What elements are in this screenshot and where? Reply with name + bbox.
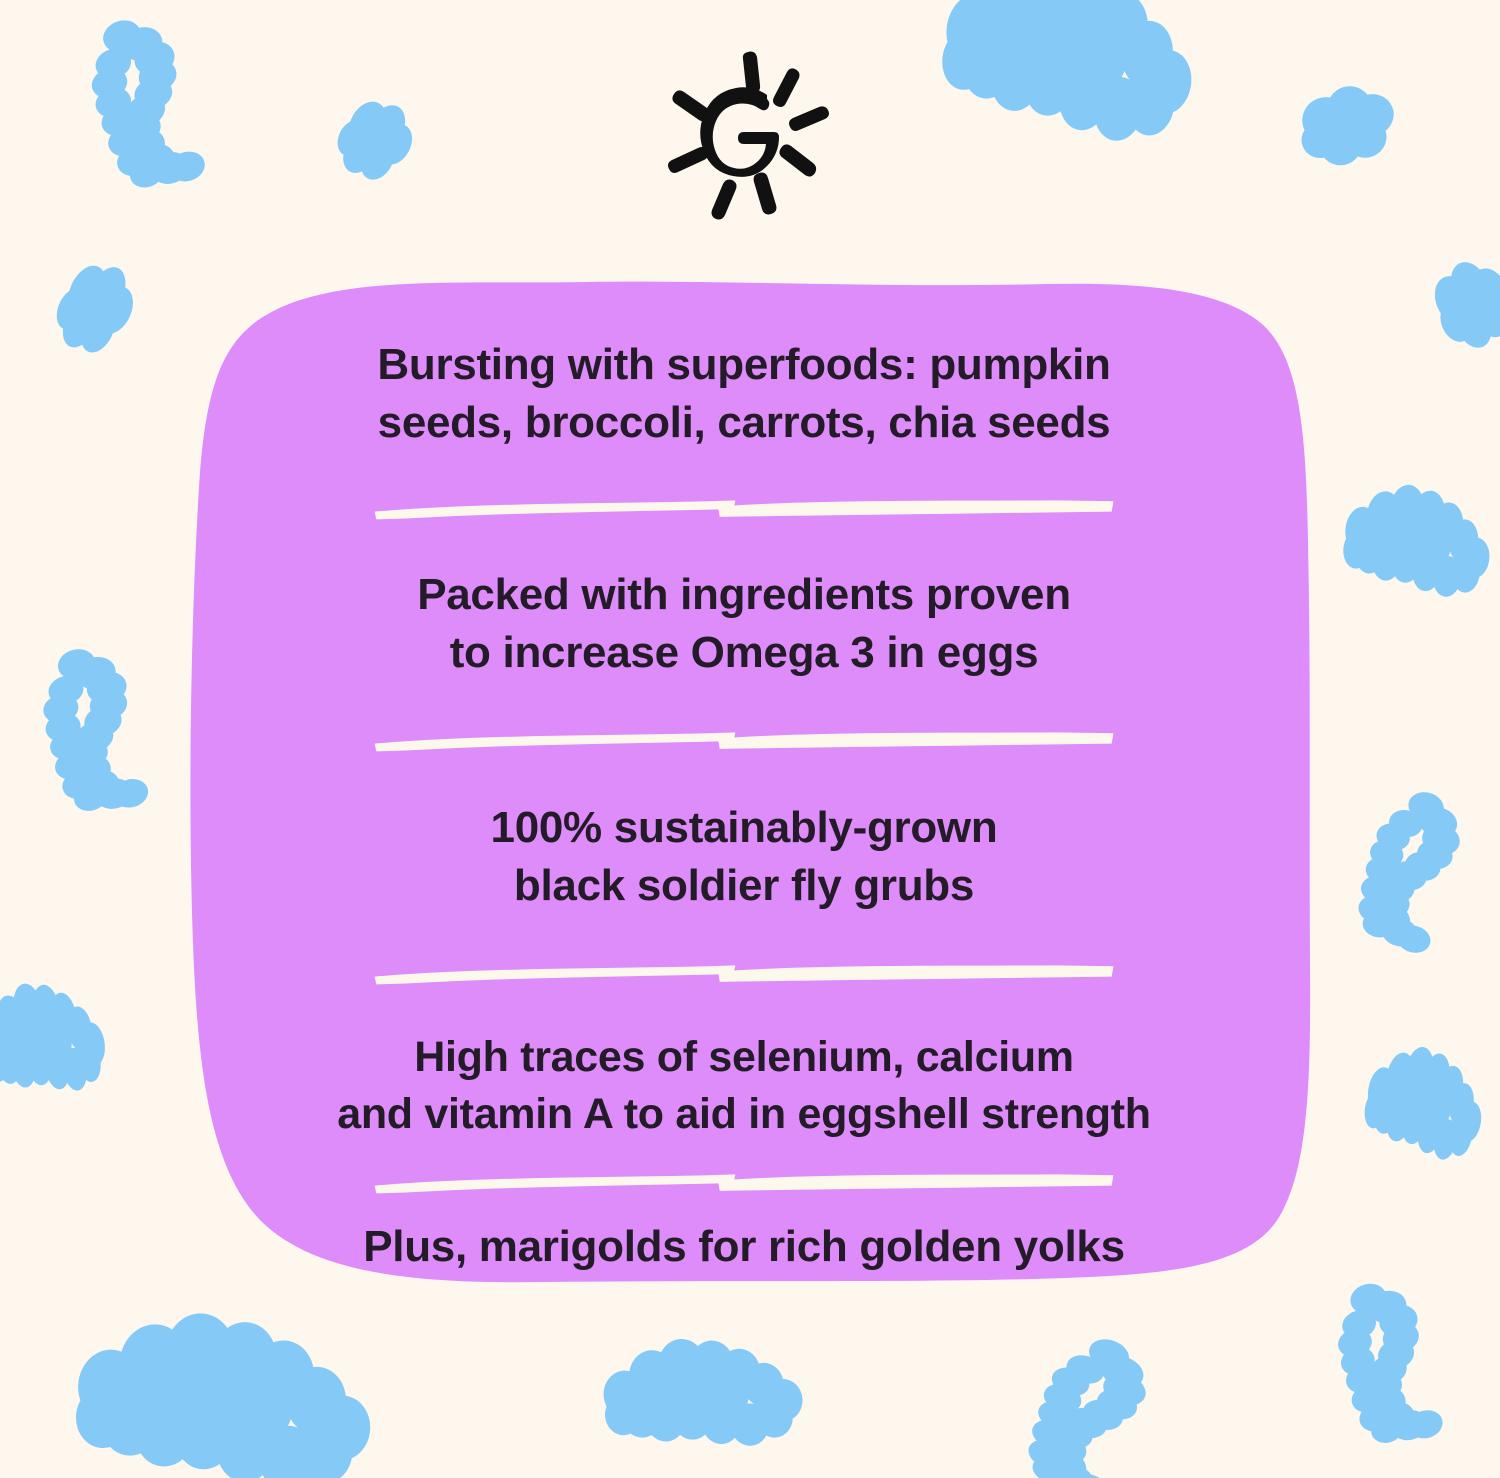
benefit-item-black-soldier-fly: 100% sustainably-grown black soldier fly… — [196, 799, 1292, 915]
divider-3 — [314, 961, 1174, 990]
grub-left-lower — [0, 974, 111, 1103]
grub-upper-right-edge — [1421, 250, 1500, 359]
benefit-line: Packed with ingredients proven — [196, 566, 1292, 624]
divider-2 — [314, 728, 1174, 757]
grub-right-lower — [1349, 782, 1470, 957]
divider-1 — [314, 496, 1174, 525]
grub-mid-left — [28, 639, 155, 823]
benefit-line: seeds, broccoli, carrots, chia seeds — [196, 394, 1292, 452]
benefit-line: Plus, marigolds for rich golden yolks — [196, 1218, 1292, 1276]
poster-canvas: Bursting with superfoods: pumpkin seeds,… — [0, 0, 1500, 1478]
benefit-line: and vitamin A to aid in eggshell strengt… — [196, 1086, 1292, 1143]
benefit-item-marigolds: Plus, marigolds for rich golden yolks — [196, 1218, 1292, 1276]
benefit-line: High traces of selenium, calcium — [196, 1029, 1292, 1086]
benefit-line: Bursting with superfoods: pumpkin — [196, 336, 1292, 394]
benefit-line: 100% sustainably-grown — [196, 799, 1292, 857]
grub-bottom-mid — [600, 1331, 805, 1456]
grub-right-low — [1358, 1039, 1492, 1165]
grub-mid-right — [1339, 479, 1496, 601]
grub-bottom-right — [1016, 1325, 1158, 1478]
benefit-item-eggshell-strength: High traces of selenium, calcium and vit… — [196, 1029, 1292, 1143]
grub-bottom-left — [72, 1305, 378, 1478]
benefits-card: Bursting with superfoods: pumpkin seeds,… — [166, 262, 1322, 1316]
brand-logo — [0, 48, 1500, 223]
benefits-list: Bursting with superfoods: pumpkin seeds,… — [166, 262, 1322, 1316]
sun-g-logo-icon — [655, 48, 845, 223]
divider-4 — [314, 1170, 1174, 1199]
benefit-item-omega-3: Packed with ingredients proven to increa… — [196, 566, 1292, 682]
benefit-line: black soldier fly grubs — [196, 857, 1292, 915]
benefit-item-superfoods: Bursting with superfoods: pumpkin seeds,… — [196, 336, 1292, 452]
grub-upper-left-edge — [45, 252, 146, 364]
grub-bottom-far-right — [1322, 1273, 1451, 1456]
benefit-line: to increase Omega 3 in eggs — [196, 624, 1292, 682]
